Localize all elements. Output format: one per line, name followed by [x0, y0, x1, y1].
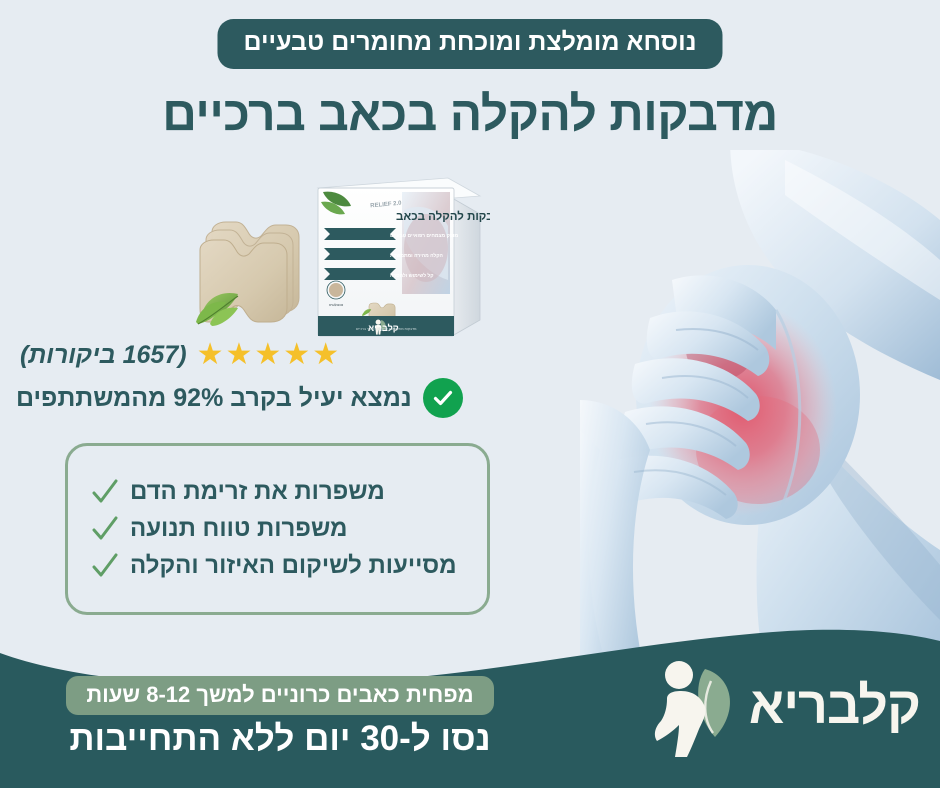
- check-mark-icon: [92, 516, 118, 542]
- star-icon: ★: [254, 340, 281, 370]
- star-rating: ★ ★ ★ ★ ★: [197, 340, 340, 370]
- svg-text:מופק מצמחים רפואיים טבעיים: מופק מצמחים רפואיים טבעיים: [390, 233, 459, 239]
- efficacy-row: נמצא יעיל בקרב 92% מהמשתתפים: [0, 378, 500, 418]
- reviews-count: (1657 ביקורות): [20, 341, 187, 370]
- benefit-item: מסייעות לשיקום האיזור והקלה: [92, 552, 455, 580]
- star-icon: ★: [312, 340, 339, 370]
- knee-pain-photo: [580, 150, 940, 670]
- check-circle-icon: [423, 378, 463, 418]
- check-mark-icon: [92, 479, 118, 505]
- check-mark-icon: [92, 553, 118, 579]
- star-icon: ★: [283, 340, 310, 370]
- benefit-item: משפרות טווח תנועה: [92, 515, 455, 543]
- benefits-box: משפרות את זרימת הדם משפרות טווח תנועה מס…: [65, 443, 490, 615]
- advertisement-root: נוסחא מומלצת ומוכחת מחומרים טבעיים מדבקו…: [0, 0, 940, 788]
- top-badge: נוסחא מומלצת ומוכחת מחומרים טבעיים: [217, 19, 722, 69]
- benefit-label: מסייעות לשיקום האיזור והקלה: [130, 552, 457, 580]
- efficacy-label: נמצא יעיל בקרב 92% מהמשתתפים: [16, 384, 412, 413]
- benefit-label: משפרות את זרימת הדם: [130, 478, 385, 506]
- product-box: RELIEF 2.0 מדבקות להקלה בכאב מופק מצמחים…: [318, 178, 490, 336]
- rating-row: ★ ★ ★ ★ ★ (1657 ביקורות): [0, 340, 500, 370]
- cta-label: נסו ל-30 יום ללא התחייבות: [69, 719, 490, 759]
- brand-logo: קלבריא: [653, 655, 920, 760]
- star-icon: ★: [197, 340, 224, 370]
- svg-text:טכנולוגיה: טכנולוגיה: [329, 303, 344, 307]
- svg-text:מדבקות מתקדמות להקלה בכאבי ברכ: מדבקות מתקדמות להקלה בכאבי ברכיים: [356, 327, 417, 331]
- svg-text:מדבקות להקלה בכאב: מדבקות להקלה בכאב: [396, 210, 490, 223]
- benefit-item: משפרות את זרימת הדם: [92, 478, 455, 506]
- svg-text:הקלה מהירה ומתמשכת: הקלה מהירה ומתמשכת: [390, 252, 443, 259]
- svg-text:קל לשימוש ולהסרה: קל לשימוש ולהסרה: [390, 272, 434, 279]
- duration-badge: מפחית כאבים כרוניים למשך 8-12 שעות: [66, 676, 493, 715]
- product-image: RELIEF 2.0 מדבקות להקלה בכאב מופק מצמחים…: [190, 170, 490, 345]
- brand-logo-text: קלבריא: [749, 680, 920, 736]
- bottom-cta-block: מפחית כאבים כרוניים למשך 8-12 שעות נסו ל…: [0, 668, 560, 788]
- page-title: מדבקות להקלה בכאב ברכיים: [0, 88, 940, 142]
- star-icon: ★: [225, 340, 252, 370]
- benefit-label: משפרות טווח תנועה: [130, 515, 347, 543]
- person-leaf-icon: [653, 655, 745, 760]
